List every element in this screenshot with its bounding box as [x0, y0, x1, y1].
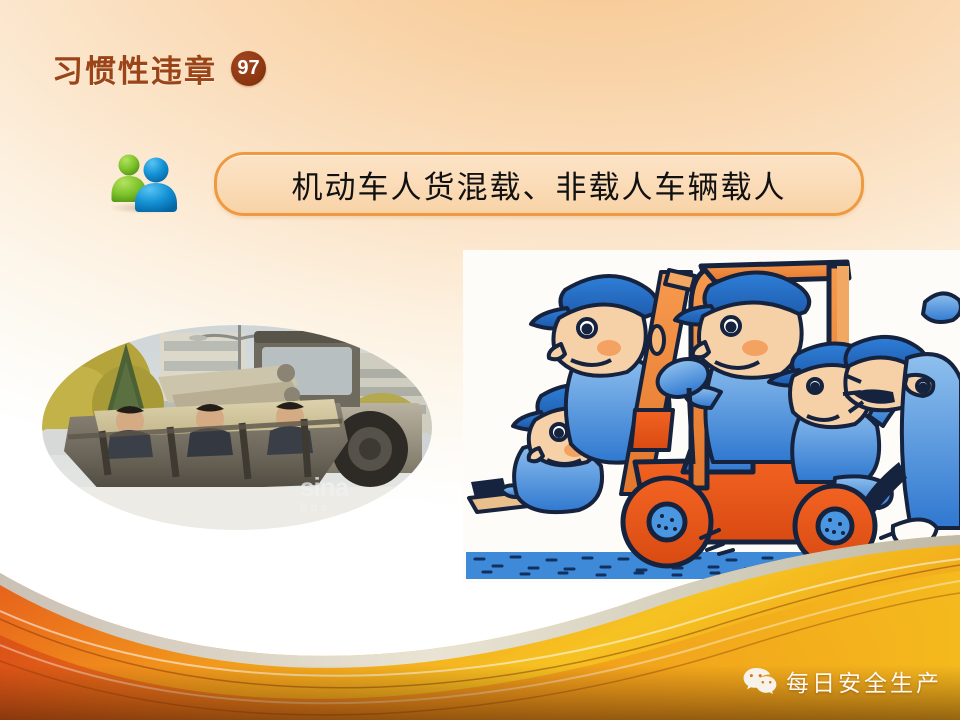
two-people-icon — [104, 152, 186, 214]
slide-header: 习惯性违章 97 — [52, 46, 266, 91]
page-number-badge: 97 — [231, 51, 266, 86]
topic-title-pill: 机动车人货混载、非载人车辆载人 — [214, 152, 864, 216]
slide-canvas: 习惯性违章 97 — [0, 0, 960, 720]
loader-bucket-photo — [42, 325, 432, 530]
page-title: 习惯性违章 — [52, 46, 217, 91]
topic-title-text: 机动车人货混载、非载人车辆载人 — [292, 162, 787, 207]
wechat-icon — [743, 667, 777, 695]
wechat-watermark-text: 每日安全生产 — [786, 664, 942, 698]
wechat-watermark: 每日安全生产 — [743, 664, 942, 698]
